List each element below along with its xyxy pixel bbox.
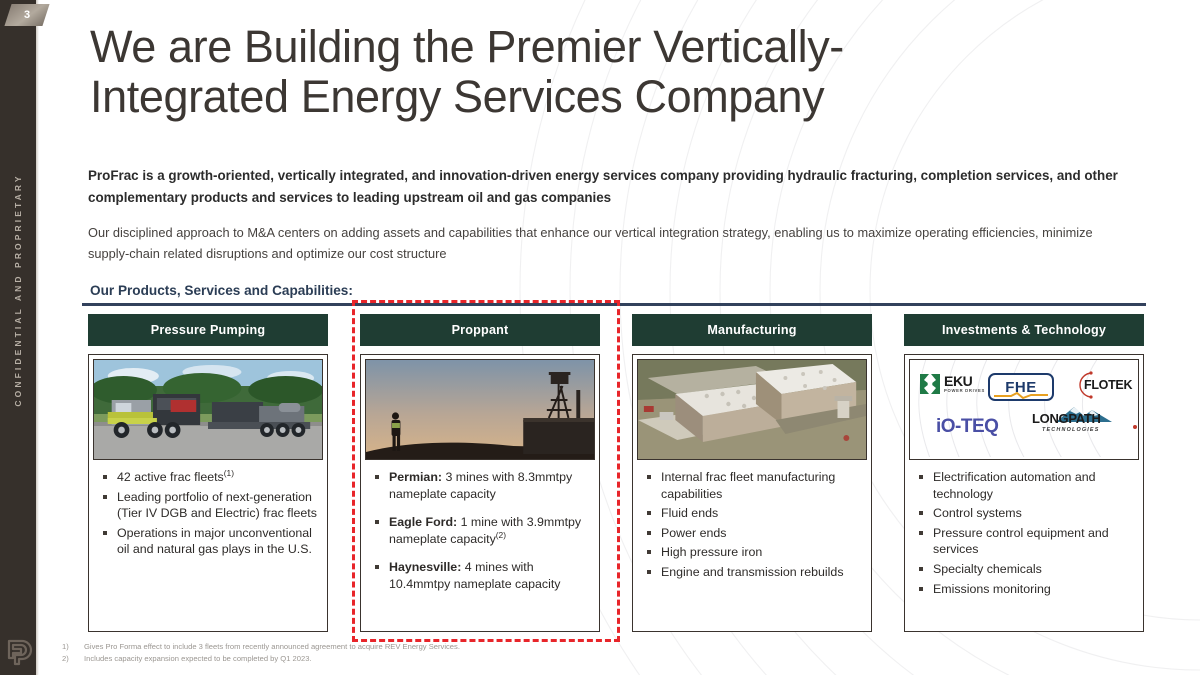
longpath-dot-icon <box>1132 424 1138 430</box>
photo-aerial-manufacturing-plant <box>637 359 867 460</box>
page-title: We are Building the Premier Vertically- … <box>90 22 1150 122</box>
list-item: Pressure control equipment and services <box>917 525 1133 558</box>
list-item: Haynesville: 4 mines with 10.4mmtpy name… <box>373 559 589 592</box>
page-title-line-1: We are Building the Premier Vertically- <box>90 22 1150 72</box>
list-item: Power ends <box>645 525 861 542</box>
section-title: Our Products, Services and Capabilities: <box>90 283 353 298</box>
column-header-proppant: Proppant <box>360 314 600 346</box>
bullet-list-manufacturing: Internal frac fleet manufacturing capabi… <box>645 469 861 584</box>
footnote-2-marker: 2) <box>62 653 84 665</box>
list-item: Electrification automation and technolog… <box>917 469 1133 502</box>
list-item: Control systems <box>917 505 1133 522</box>
column-body-pressure-pumping: 42 active frac fleets(1) Leading portfol… <box>88 354 328 632</box>
logo-fhe: FHE <box>988 373 1054 401</box>
footnote-1-text: Gives Pro Forma effect to include 3 flee… <box>84 641 460 653</box>
bullet-list-pressure-pumping: 42 active frac fleets(1) Leading portfol… <box>101 469 317 561</box>
column-proppant: Proppant <box>360 314 600 632</box>
column-manufacturing: Manufacturing <box>632 314 872 632</box>
logo-eku: EKU POWER DRIVES <box>918 372 985 396</box>
list-item: Emissions monitoring <box>917 581 1133 598</box>
left-rail: CONFIDENTIAL AND PROPRIETARY <box>0 0 36 675</box>
list-item: 42 active frac fleets(1) <box>101 469 317 486</box>
rail-edge-gradient <box>36 0 39 675</box>
column-body-manufacturing: Internal frac fleet manufacturing capabi… <box>632 354 872 632</box>
profrac-monogram-icon <box>6 637 34 667</box>
column-header-pressure-pumping: Pressure Pumping <box>88 314 328 346</box>
column-pressure-pumping: Pressure Pumping <box>88 314 328 632</box>
fhe-swoosh-icon <box>993 392 1049 399</box>
logo-flotek: FLOTEK <box>1062 370 1136 400</box>
footnotes: 1) Gives Pro Forma effect to include 3 f… <box>62 641 962 665</box>
column-header-investments-technology: Investments & Technology <box>904 314 1144 346</box>
column-body-investments-technology: EKU POWER DRIVES FHE <box>904 354 1144 632</box>
list-item: Eagle Ford: 1 mine with 3.9mmtpy namepla… <box>373 514 589 547</box>
logo-eku-tagline: POWER DRIVES <box>944 388 985 393</box>
list-item: Internal frac fleet manufacturing capabi… <box>645 469 861 502</box>
footnote-1: 1) Gives Pro Forma effect to include 3 f… <box>62 641 962 653</box>
column-investments-technology: Investments & Technology <box>904 314 1144 632</box>
slide-canvas: CONFIDENTIAL AND PROPRIETARY 3 We are Bu… <box>0 0 1200 675</box>
bullet-list-investments-technology: Electrification automation and technolog… <box>917 469 1133 600</box>
list-item: Engine and transmission rebuilds <box>645 564 861 581</box>
footnote-2-text: Includes capacity expansion expected to … <box>84 653 312 665</box>
bullet-list-proppant: Permian: 3 mines with 8.3mmtpy nameplate… <box>373 469 589 605</box>
confidential-label: CONFIDENTIAL AND PROPRIETARY <box>0 174 36 406</box>
footnote-2: 2) Includes capacity expansion expected … <box>62 653 962 665</box>
logo-io-teq-name: iO-TEQ <box>936 416 998 437</box>
list-item: Specialty chemicals <box>917 561 1133 578</box>
column-header-manufacturing: Manufacturing <box>632 314 872 346</box>
logo-longpath-name: LONGPATH <box>1032 411 1101 426</box>
footnote-1-marker: 1) <box>62 641 84 653</box>
list-item: Permian: 3 mines with 8.3mmtpy nameplate… <box>373 469 589 502</box>
column-body-proppant: Permian: 3 mines with 8.3mmtpy nameplate… <box>360 354 600 632</box>
logo-io-teq: iO-TEQ <box>936 416 998 438</box>
logo-flotek-name: FLOTEK <box>1084 378 1132 392</box>
eku-mark-icon <box>918 372 942 396</box>
section-divider <box>82 303 1146 306</box>
partner-logo-wall: EKU POWER DRIVES FHE <box>909 359 1139 460</box>
lede-paragraph: ProFrac is a growth-oriented, vertically… <box>88 165 1123 209</box>
photo-frac-truck <box>93 359 323 460</box>
capability-columns: Pressure Pumping <box>82 314 1150 634</box>
logo-longpath: LONGPATH TECHNOLOGIES <box>1032 410 1136 433</box>
page-number-badge: 3 <box>4 4 49 26</box>
page-title-line-2: Integrated Energy Services Company <box>90 72 1150 122</box>
list-item: Leading portfolio of next-generation (Ti… <box>101 489 317 522</box>
page-number-text: 3 <box>24 9 30 21</box>
photo-sand-mine-silhouette <box>365 359 595 460</box>
logo-eku-name: EKU <box>944 375 985 388</box>
sub-paragraph: Our disciplined approach to M&A centers … <box>88 222 1128 264</box>
logo-longpath-tagline: TECHNOLOGIES <box>1042 427 1136 433</box>
list-item: Operations in major unconventional oil a… <box>101 525 317 558</box>
list-item: High pressure iron <box>645 544 861 561</box>
list-item: Fluid ends <box>645 505 861 522</box>
